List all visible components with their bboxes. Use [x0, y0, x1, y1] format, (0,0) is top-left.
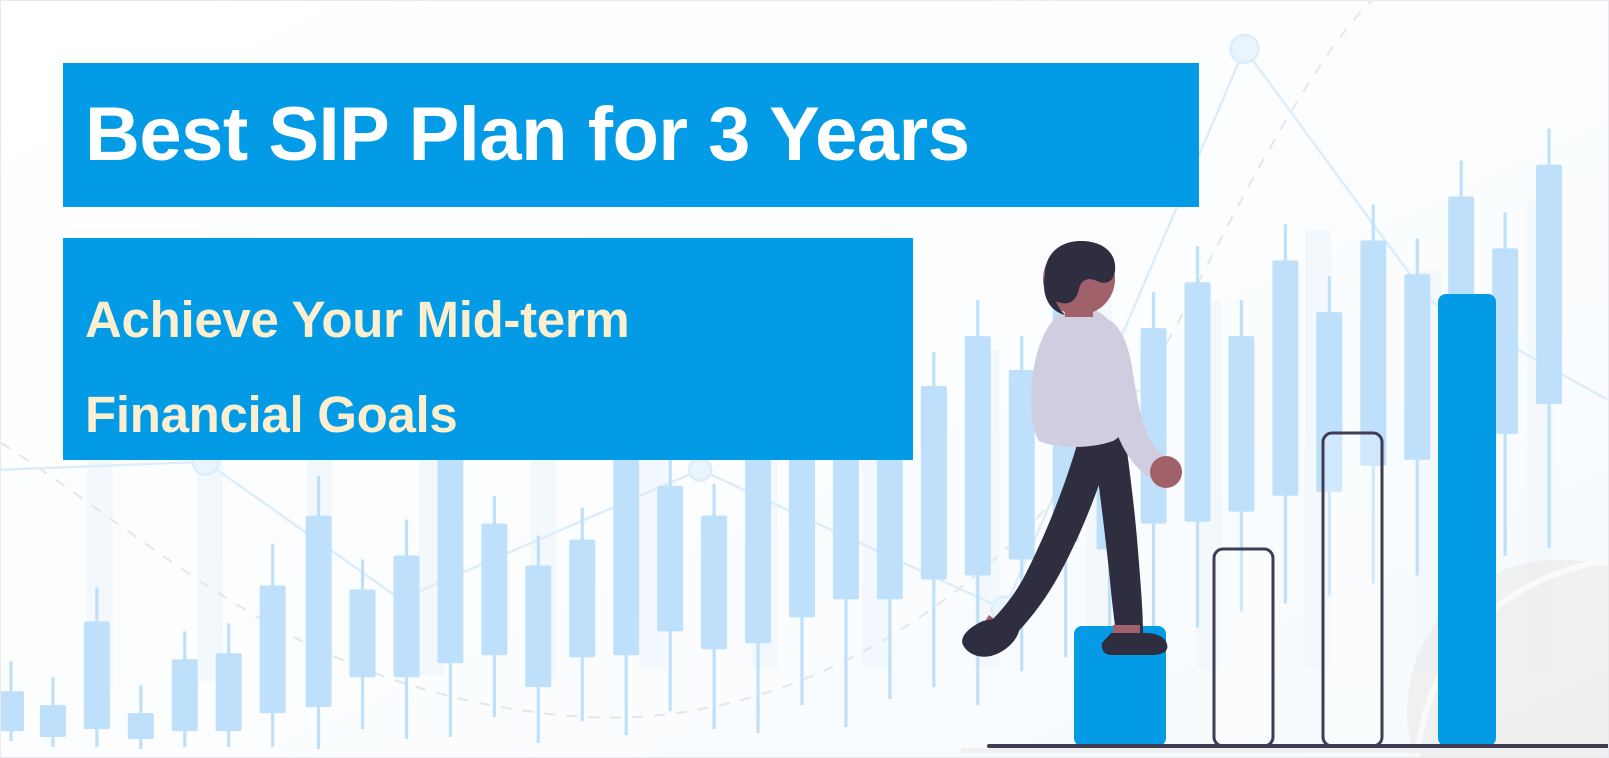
banner-text-layer: Best SIP Plan for 3 Years Achieve Your M…: [1, 1, 1608, 757]
subtitle-banner-box: Achieve Your Mid-term Financial Goals: [63, 238, 913, 460]
headline-banner-box: Best SIP Plan for 3 Years: [63, 63, 1199, 207]
subtitle-line-2: Financial Goals: [85, 367, 913, 462]
page-title: Best SIP Plan for 3 Years: [85, 97, 970, 173]
subtitle-line-1: Achieve Your Mid-term: [85, 272, 913, 367]
sip-promo-banner: Best SIP Plan for 3 Years Achieve Your M…: [0, 0, 1609, 758]
